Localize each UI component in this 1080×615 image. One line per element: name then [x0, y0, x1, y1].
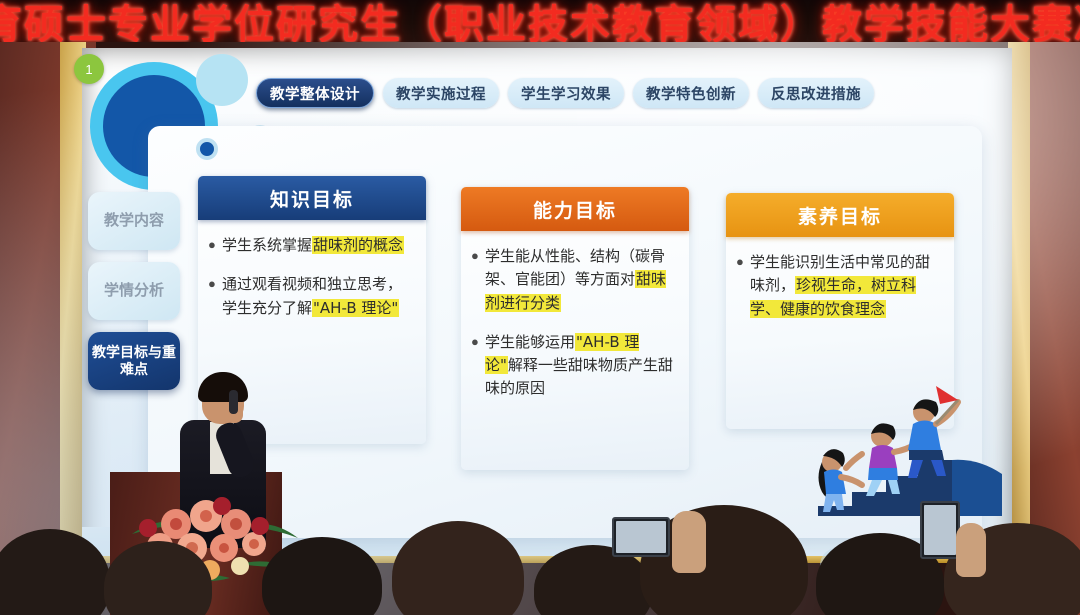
bullet-dot-icon: ● [208, 234, 222, 257]
highlighted-text: 甜味剂的概念 [312, 236, 404, 254]
left-nav-label: 学情分析 [104, 282, 164, 301]
slide-left-nav: 教学内容学情分析教学目标与重难点 [88, 192, 180, 402]
left-nav-item-2[interactable]: 学情分析 [88, 262, 180, 320]
goal-card-header: 知识目标 [198, 176, 426, 220]
left-nav-label: 教学目标与重难点 [88, 344, 180, 379]
goal-bullet: ●学生能够运用"AH-B 理论"解释一些甜味物质产生甜味的原因 [471, 331, 677, 401]
slide-tab-3[interactable]: 学生学习效果 [508, 78, 624, 108]
goal-card-title: 素养目标 [798, 202, 882, 229]
bullet-dot-icon: ● [736, 251, 750, 321]
slide-tab-label: 反思改进措施 [771, 83, 861, 104]
decorative-pale-circle [196, 54, 248, 106]
slide-tab-label: 教学整体设计 [270, 83, 360, 104]
goal-bullet: ●通过观看视频和独立思考，学生充分了解"AH-B 理论" [208, 273, 414, 320]
slide-tab-4[interactable]: 教学特色创新 [633, 78, 749, 108]
goal-card-header: 能力目标 [461, 187, 689, 231]
goal-card-body: ●学生能从性能、结构（碳骨架、官能团）等方面对甜味剂进行分类●学生能够运用"AH… [461, 231, 689, 427]
audience-phone-left [612, 517, 670, 557]
bullet-text: 学生能够运用"AH-B 理论"解释一些甜味物质产生甜味的原因 [485, 331, 677, 401]
plain-text: 解释一些甜味物质产生甜味的原因 [485, 356, 673, 397]
audience-hand-left [672, 511, 706, 573]
audience-phone-right [920, 501, 960, 559]
goal-bullet: ●学生系统掌握甜味剂的概念 [208, 234, 414, 257]
goal-card-body: ●学生能识别生活中常见的甜味剂，珍视生命，树立科学、健康的饮食理念 [726, 237, 954, 347]
audience-hand-right [956, 523, 986, 577]
slide-tab-label: 教学特色创新 [646, 83, 736, 104]
highlighted-text: "AH-B 理论" [312, 299, 399, 317]
bullet-text: 通过观看视频和独立思考，学生充分了解"AH-B 理论" [222, 273, 414, 320]
microphone [229, 390, 238, 414]
plain-text: 学生系统掌握 [222, 236, 312, 254]
bullet-text: 学生能识别生活中常见的甜味剂，珍视生命，树立科学、健康的饮食理念 [750, 251, 942, 321]
left-nav-item-1[interactable]: 教学内容 [88, 192, 180, 250]
panel-accent-dot [196, 138, 218, 160]
goal-card-title: 知识目标 [270, 185, 354, 212]
audience-foreground [0, 497, 1080, 615]
bullet-text: 学生系统掌握甜味剂的概念 [222, 234, 404, 257]
bullet-dot-icon: ● [471, 245, 485, 315]
conference-hall-photo: 育硕士专业学位研究生（职业技术教育领域）教学技能大赛决赛 1 教学整体设计教学实… [0, 0, 1080, 615]
bullet-text: 学生能从性能、结构（碳骨架、官能团）等方面对甜味剂进行分类 [485, 245, 677, 315]
slide-tab-label: 教学实施过程 [396, 83, 486, 104]
left-nav-item-3[interactable]: 教学目标与重难点 [88, 332, 180, 390]
slide-tab-bar: 教学整体设计教学实施过程学生学习效果教学特色创新反思改进措施 [256, 78, 883, 108]
goal-card-header: 素养目标 [726, 193, 954, 237]
led-banner: 育硕士专业学位研究生（职业技术教育领域）教学技能大赛决赛 [0, 0, 1080, 42]
left-nav-label: 教学内容 [104, 212, 164, 231]
goal-card-title: 能力目标 [533, 196, 617, 223]
goal-bullet: ●学生能从性能、结构（碳骨架、官能团）等方面对甜味剂进行分类 [471, 245, 677, 315]
goal-bullet: ●学生能识别生活中常见的甜味剂，珍视生命，树立科学、健康的饮食理念 [736, 251, 942, 321]
goal-card-body: ●学生系统掌握甜味剂的概念●通过观看视频和独立思考，学生充分了解"AH-B 理论… [198, 220, 426, 346]
bullet-dot-icon: ● [208, 273, 222, 320]
slide-tab-2[interactable]: 教学实施过程 [383, 78, 499, 108]
slide-number-badge: 1 [74, 54, 104, 84]
plain-text: 学生能够运用 [485, 333, 575, 351]
slide-tab-5[interactable]: 反思改进措施 [758, 78, 874, 108]
goal-card-2: 能力目标●学生能从性能、结构（碳骨架、官能团）等方面对甜味剂进行分类●学生能够运… [461, 187, 689, 470]
slide-tab-label: 学生学习效果 [521, 83, 611, 104]
slide-tab-1[interactable]: 教学整体设计 [256, 78, 374, 108]
bullet-dot-icon: ● [471, 331, 485, 401]
led-banner-text: 育硕士专业学位研究生（职业技术教育领域）教学技能大赛决赛 [0, 0, 1080, 42]
